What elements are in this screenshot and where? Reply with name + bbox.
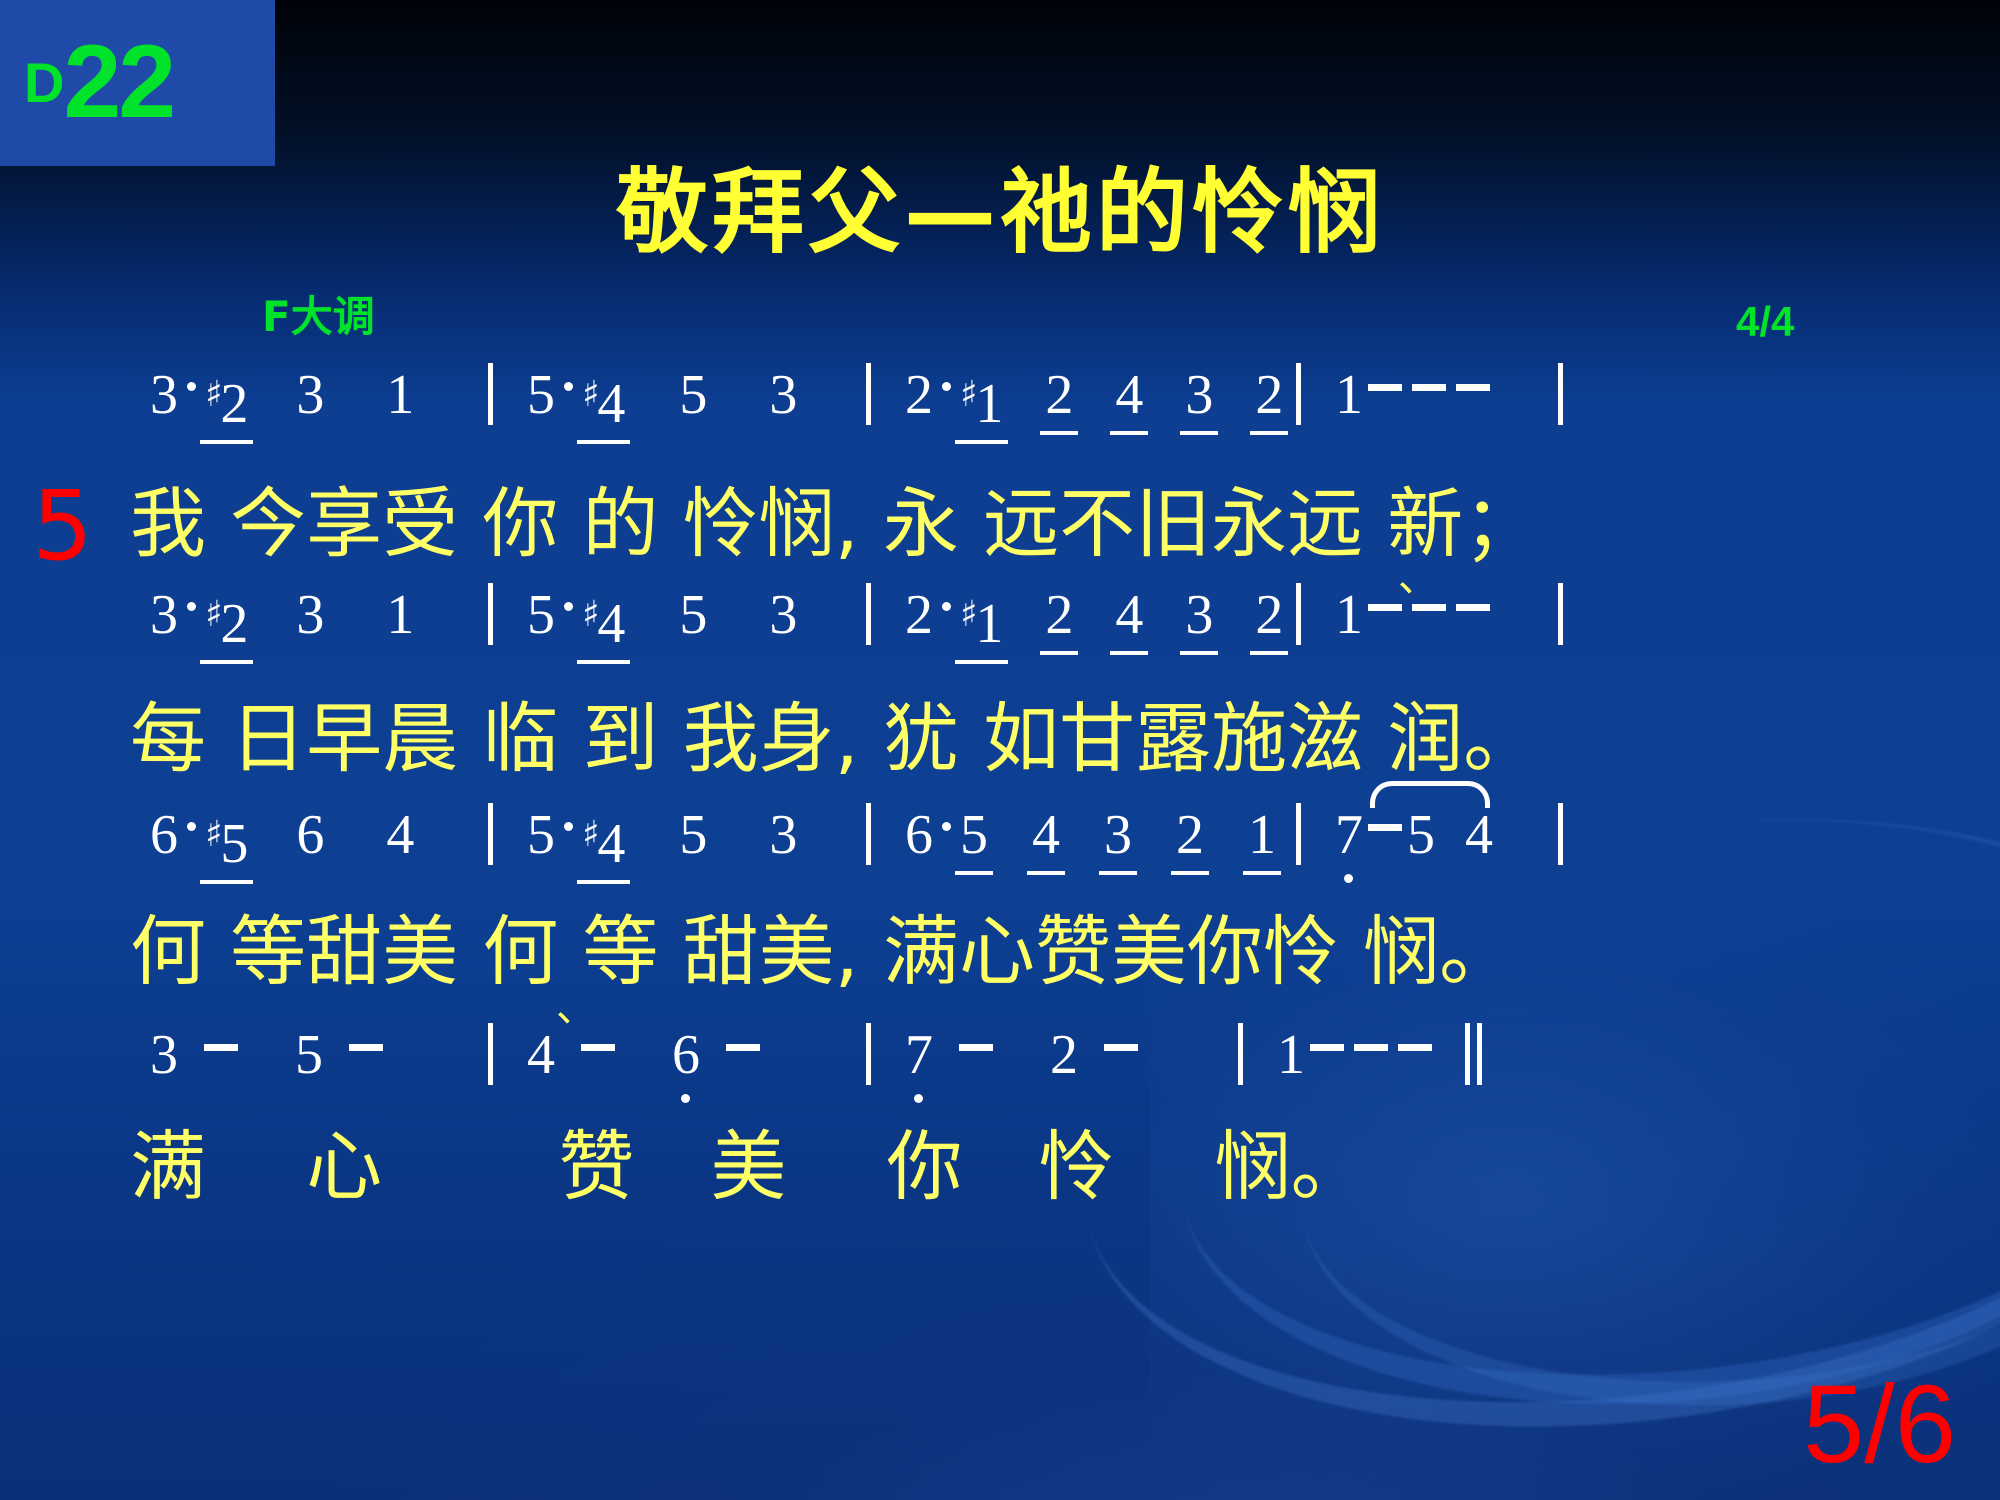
note: 1 <box>1335 363 1363 427</box>
stave-3-measure-4: 75 4 <box>1335 803 1493 881</box>
sustain-dash <box>1104 1044 1138 1051</box>
note: ♯2 <box>205 363 248 436</box>
note: 7 <box>1335 803 1363 867</box>
note: 4 <box>1115 583 1143 647</box>
note: 1 <box>1248 803 1276 867</box>
barline <box>866 803 871 865</box>
sustain-dash <box>1398 1044 1432 1051</box>
augmentation-dot-icon <box>187 822 196 831</box>
sustain-dash <box>959 1044 993 1051</box>
barline <box>1296 583 1301 645</box>
stave-2-measure-4: 1 <box>1335 583 1495 661</box>
sustain-dash <box>1368 384 1402 391</box>
barline <box>866 1023 871 1085</box>
augmentation-dot-icon <box>942 602 951 611</box>
stave-3-measure-2: 5♯4 5 3 <box>527 803 797 881</box>
barline <box>488 803 493 865</box>
lyric-line-4: 满 心 赞 美 你 怜 悯。 <box>130 1105 1367 1215</box>
augmentation-dot-icon <box>564 602 573 611</box>
stave-4: 3 5 4 6 7 2 1 <box>150 1023 1870 1101</box>
barline <box>1296 803 1301 865</box>
note: 1 <box>386 363 414 427</box>
note: ♯1 <box>960 583 1003 656</box>
note: 5 <box>527 803 555 867</box>
note: ♯1 <box>960 363 1003 436</box>
barline <box>1558 803 1563 865</box>
stave-4-measure-3: 7 2 <box>905 1023 1143 1101</box>
barline <box>1296 363 1301 425</box>
note: 2 <box>1176 803 1204 867</box>
stave-1-measure-1: 3♯2 3 1 <box>150 363 414 441</box>
stave-3-measure-1: 6♯5 6 4 <box>150 803 414 881</box>
note: 5 <box>679 363 707 427</box>
note: 1 <box>1335 583 1363 647</box>
note: 3 <box>296 583 324 647</box>
barline <box>1558 363 1563 425</box>
stave-2: 3♯2 3 1 5♯4 5 3 2♯1 2 4 3 2 1 <box>150 583 1870 661</box>
note: 3 <box>1185 363 1213 427</box>
note: 5 <box>960 803 988 867</box>
stave-4-measure-1: 3 5 <box>150 1023 388 1101</box>
stave-3: 6♯5 6 4 5♯4 5 3 65 4 3 2 1 75 4 <box>150 803 1870 881</box>
note: 4 <box>1032 803 1060 867</box>
note: 3 <box>150 363 178 427</box>
sustain-dash <box>1412 384 1446 391</box>
note: 6 <box>296 803 324 867</box>
sustain-dash <box>349 1044 383 1051</box>
note: 2 <box>905 583 933 647</box>
note: 3 <box>150 1023 178 1087</box>
note: 5 <box>527 363 555 427</box>
note: ♯2 <box>205 583 248 656</box>
sustain-dash <box>1456 384 1490 391</box>
note: 2 <box>1045 363 1073 427</box>
note: 3 <box>1104 803 1132 867</box>
sustain-dash <box>204 1044 238 1051</box>
note: 2 <box>1255 363 1283 427</box>
note: 3 <box>1185 583 1213 647</box>
badge-number-label: 22 <box>63 40 173 125</box>
note: 6 <box>905 803 933 867</box>
augmentation-dot-icon <box>564 822 573 831</box>
note: 7 <box>905 1023 933 1087</box>
note: 2 <box>905 363 933 427</box>
key-signature-label: F大调 <box>262 283 375 344</box>
time-signature-label: 4/4 <box>1736 298 1794 346</box>
stave-1: 3♯2 3 1 5♯4 5 3 2♯1 2 4 3 2 1 <box>150 363 1870 441</box>
note: 4 <box>527 1023 555 1087</box>
note: 4 <box>1465 803 1493 867</box>
note: ♯4 <box>582 583 625 656</box>
verse-number-label: 5 <box>32 470 93 582</box>
sustain-dash <box>1368 604 1402 611</box>
stave-1-measure-3: 2♯1 2 4 3 2 <box>905 363 1283 441</box>
sustain-dash <box>726 1044 760 1051</box>
sustain-dash <box>1368 824 1402 831</box>
barline <box>1558 583 1563 645</box>
page-number-label: 5/6 <box>1803 1361 1956 1488</box>
final-double-barline <box>1465 1023 1482 1099</box>
note: 5 <box>1407 803 1435 867</box>
lyric-line-2: 每 日早晨 临 到 我身, 犹 如甘露施滋 润。 <box>130 677 1539 787</box>
note: 5 <box>527 583 555 647</box>
note: ♯4 <box>582 803 625 876</box>
sustain-dash <box>1456 604 1490 611</box>
barline <box>1238 1023 1243 1085</box>
note: 3 <box>769 803 797 867</box>
sustain-dash <box>1310 1044 1344 1051</box>
note: 6 <box>672 1023 700 1087</box>
barline <box>488 363 493 425</box>
sustain-dash <box>1354 1044 1388 1051</box>
note: 3 <box>769 583 797 647</box>
stave-2-measure-3: 2♯1 2 4 3 2 <box>905 583 1283 661</box>
barline <box>866 583 871 645</box>
note: ♯4 <box>582 363 625 436</box>
note: 4 <box>1115 363 1143 427</box>
sustain-dash <box>581 1044 615 1051</box>
augmentation-dot-icon <box>942 382 951 391</box>
note: 2 <box>1255 583 1283 647</box>
stave-1-measure-2: 5♯4 5 3 <box>527 363 797 441</box>
note: 2 <box>1050 1023 1078 1087</box>
note: 4 <box>386 803 414 867</box>
note: 3 <box>296 363 324 427</box>
lyric-line-1: 我 今享受 你 的 怜悯, 永 远不旧永远 新； <box>130 462 1539 572</box>
barline <box>488 583 493 645</box>
stave-4-measure-4: 1 <box>1277 1023 1482 1101</box>
note: 5 <box>679 803 707 867</box>
stave-2-measure-2: 5♯4 5 3 <box>527 583 797 661</box>
page-title: 敬拜父—祂的怜悯 <box>0 138 2000 271</box>
badge-prefix-label: D <box>24 58 63 108</box>
note: 6 <box>150 803 178 867</box>
stave-1-measure-4: 1 <box>1335 363 1495 441</box>
note: 3 <box>769 363 797 427</box>
note: 1 <box>1277 1023 1305 1087</box>
augmentation-dot-icon <box>187 382 196 391</box>
note: 5 <box>679 583 707 647</box>
lyric-line-3: 何 等甜美 何 等 甜美, 满心赞美你怜 悯。 <box>130 890 1515 1000</box>
note: 5 <box>295 1023 323 1087</box>
augmentation-dot-icon <box>942 822 951 831</box>
note: 1 <box>386 583 414 647</box>
stave-3-measure-3: 65 4 3 2 1 <box>905 803 1276 881</box>
barline <box>866 363 871 425</box>
note: 2 <box>1045 583 1073 647</box>
note: ♯5 <box>205 803 248 876</box>
slide-canvas: D 22 敬拜父—祂的怜悯 F大调 4/4 5 3♯2 3 1 5♯4 5 3 … <box>0 0 2000 1500</box>
stave-2-measure-1: 3♯2 3 1 <box>150 583 414 661</box>
stave-4-measure-2: 4 6 <box>527 1023 765 1101</box>
augmentation-dot-icon <box>564 382 573 391</box>
sustain-dash <box>1412 604 1446 611</box>
barline <box>488 1023 493 1085</box>
note: 3 <box>150 583 178 647</box>
augmentation-dot-icon <box>187 602 196 611</box>
